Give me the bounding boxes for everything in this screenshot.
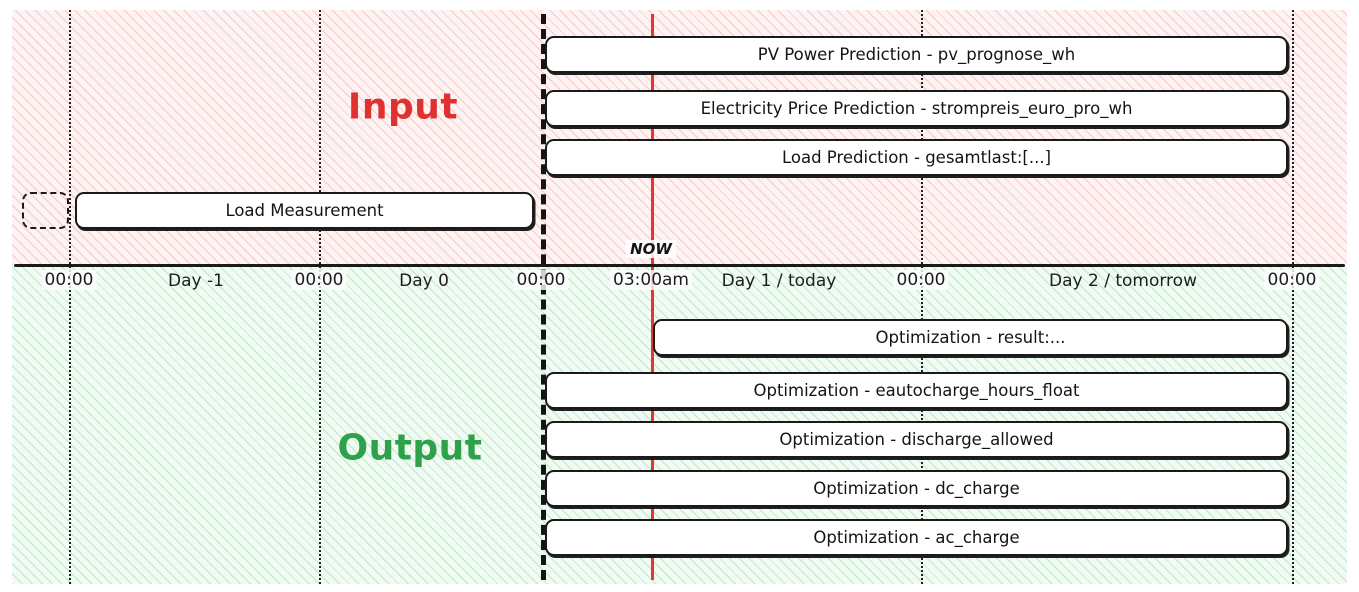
output-region-caption: Output: [337, 428, 482, 469]
day-boundary-dotted-line-2: [319, 10, 321, 584]
axis-day-label-4: Day 2 / tomorrow: [1049, 271, 1197, 291]
output-bar-3[interactable]: Optimization - discharge_allowed: [545, 421, 1288, 458]
day-boundary-dotted-line-4: [1292, 10, 1294, 584]
output-bar-3-label: Optimization - discharge_allowed: [779, 430, 1053, 449]
load-measurement-ghost-box: [22, 192, 69, 229]
output-bar-1-label: Optimization - result:...: [876, 328, 1066, 347]
axis-day-label-2: Day 0: [399, 271, 449, 291]
output-bar-5[interactable]: Optimization - ac_charge: [545, 519, 1288, 556]
output-bar-1[interactable]: Optimization - result:...: [653, 319, 1288, 356]
time-axis-line: [14, 264, 1345, 267]
output-bar-5-label: Optimization - ac_charge: [813, 528, 1019, 547]
axis-tick-3: 00:00: [514, 270, 569, 290]
axis-day-label-1: Day -1: [168, 271, 224, 291]
input-bar-3-label: Load Prediction - gesamtlast:[...]: [782, 148, 1051, 167]
axis-day-label-3: Day 1 / today: [722, 271, 837, 291]
axis-tick-5: 00:00: [894, 270, 949, 290]
output-bar-2[interactable]: Optimization - eautocharge_hours_float: [545, 372, 1288, 409]
axis-tick-2: 00:00: [292, 270, 347, 290]
input-bar-2-label: Electricity Price Prediction - stromprei…: [701, 99, 1133, 118]
input-bar-1[interactable]: PV Power Prediction - pv_prognose_wh: [545, 36, 1288, 73]
output-bar-4-label: Optimization - dc_charge: [813, 479, 1020, 498]
input-bar-4-label: Load Measurement: [225, 201, 383, 220]
timeline-diagram: 00:0000:0000:0003:00am00:0000:00 Day -1D…: [0, 0, 1359, 592]
axis-tick-6: 00:00: [1265, 270, 1320, 290]
axis-tick-1: 00:00: [42, 270, 97, 290]
input-region-caption: Input: [348, 87, 458, 128]
axis-tick-4: 03:00am: [610, 270, 692, 290]
input-bar-2[interactable]: Electricity Price Prediction - stromprei…: [545, 90, 1288, 127]
day-boundary-dotted-line-1: [69, 10, 71, 584]
input-bar-3[interactable]: Load Prediction - gesamtlast:[...]: [545, 139, 1288, 176]
output-bar-2-label: Optimization - eautocharge_hours_float: [754, 381, 1080, 400]
now-marker-label: NOW: [626, 240, 676, 258]
input-bar-1-label: PV Power Prediction - pv_prognose_wh: [758, 45, 1075, 64]
input-bar-4[interactable]: Load Measurement: [75, 192, 534, 229]
output-bar-4[interactable]: Optimization - dc_charge: [545, 470, 1288, 507]
